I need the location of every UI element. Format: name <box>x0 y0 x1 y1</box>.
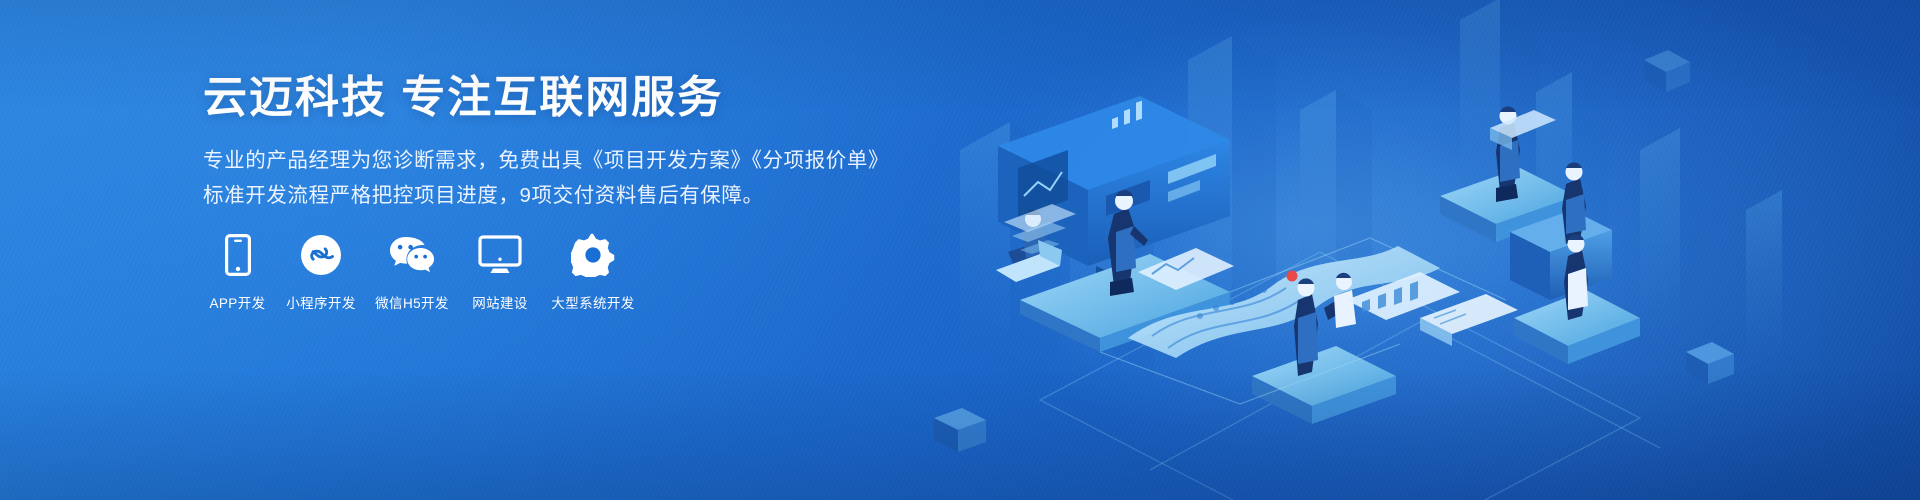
monitor-icon <box>478 232 522 278</box>
service-item-mini-program[interactable]: 小程序开发 <box>277 232 365 312</box>
mobile-phone-icon <box>225 232 251 278</box>
service-label: 小程序开发 <box>286 292 356 312</box>
service-list: APP开发 小程序开发 <box>200 232 645 312</box>
isometric-illustration <box>900 0 1920 500</box>
subtitle-line-1: 专业的产品经理为您诊断需求，免费出具《项目开发方案》《分项报价单》 <box>203 144 903 177</box>
gear-icon <box>571 232 615 278</box>
mini-program-icon <box>300 232 342 278</box>
device-window <box>1420 294 1518 346</box>
step-platform-left <box>1252 346 1396 424</box>
subtitle-line-2: 标准开发流程严格把控项目进度，9项交付资料售后有保障。 <box>203 179 903 212</box>
page-title: 云迈科技 专注互联网服务 <box>203 72 903 124</box>
service-item-wechat-h5[interactable]: 微信H5开发 <box>367 232 457 312</box>
service-label: 微信H5开发 <box>375 292 449 312</box>
wechat-icon <box>388 232 436 278</box>
service-item-website[interactable]: 网站建设 <box>459 232 541 312</box>
hero-copy: 云迈科技 专注互联网服务 专业的产品经理为您诊断需求，免费出具《项目开发方案》《… <box>203 72 903 212</box>
service-label: 网站建设 <box>472 292 528 312</box>
service-item-app[interactable]: APP开发 <box>200 232 275 312</box>
service-label: 大型系统开发 <box>551 292 634 312</box>
service-item-system[interactable]: 大型系统开发 <box>543 232 643 312</box>
hero-banner: 云迈科技 专注互联网服务 专业的产品经理为您诊断需求，免费出具《项目开发方案》《… <box>0 0 1920 500</box>
service-label: APP开发 <box>209 292 265 312</box>
